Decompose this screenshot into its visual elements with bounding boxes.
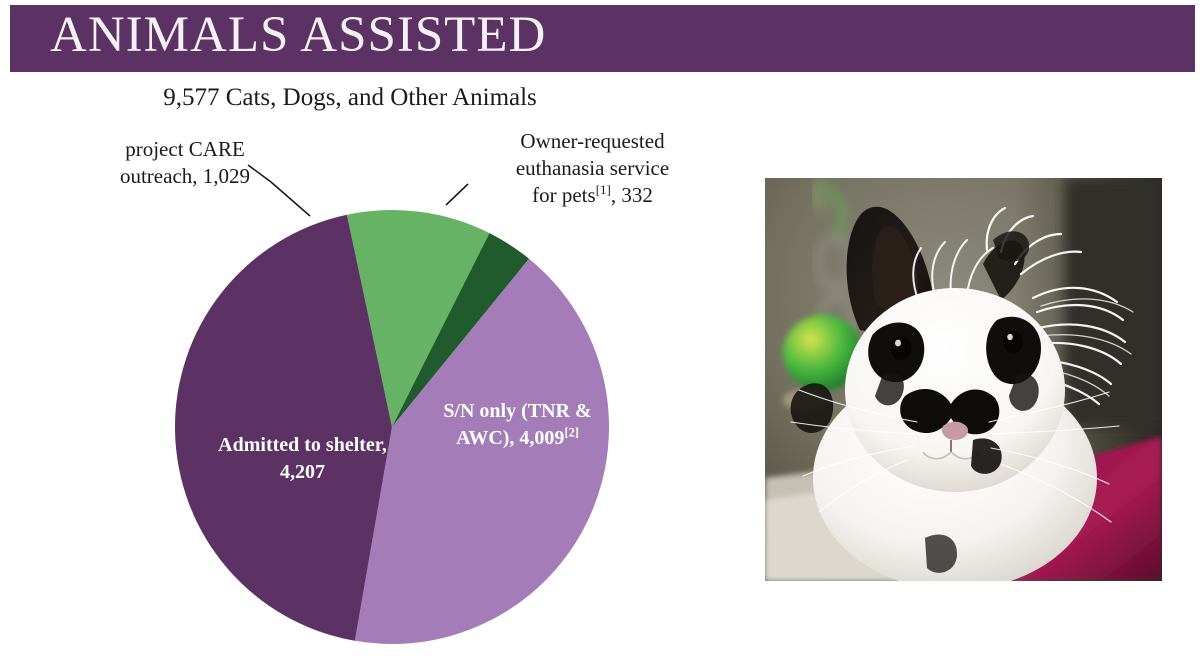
- pie-label-project-care-line1: project CARE: [60, 136, 310, 163]
- footnote-marker-2: [2]: [564, 425, 578, 439]
- pie-label-euthanasia-line3-value: , 332: [611, 183, 653, 207]
- pie-label-shelter-line1: Admitted to shelter,: [180, 432, 425, 459]
- pie-label-euthanasia-line1: Owner-requested: [470, 128, 715, 155]
- pie-label-sn-line1: S/N only (TNR &: [410, 398, 625, 425]
- pie-chart-svg: [0, 0, 740, 660]
- pie-label-euthanasia-line3: for pets[1], 332: [470, 182, 715, 209]
- leader-line-euthanasia: [446, 184, 468, 205]
- rabbit-photo: [765, 178, 1162, 581]
- pie-label-admitted-to-shelter: Admitted to shelter, 4,207: [180, 432, 425, 486]
- pie-label-euthanasia-line2: euthanasia service: [470, 155, 715, 182]
- pie-label-sn-line2: AWC), 4,009[2]: [410, 425, 625, 452]
- slide-canvas: ANIMALS ASSISTED 9,577 Cats, Dogs, and O…: [0, 0, 1204, 660]
- pie-label-euthanasia: Owner-requested euthanasia service for p…: [470, 128, 715, 209]
- rabbit-photo-image: [765, 178, 1162, 581]
- pie-label-sn-line2-text: AWC), 4,009: [456, 427, 564, 449]
- pie-label-shelter-line2: 4,207: [180, 459, 425, 486]
- pie-slice: [175, 215, 392, 641]
- pie-label-sn-only: S/N only (TNR & AWC), 4,009[2]: [410, 398, 625, 452]
- pie-label-project-care: project CARE outreach, 1,029: [60, 136, 310, 190]
- pie-label-project-care-line2: outreach, 1,029: [60, 163, 310, 190]
- pie-chart: project CARE outreach, 1,029 Owner-reque…: [0, 0, 740, 660]
- pie-label-euthanasia-line3-text: for pets: [532, 183, 596, 207]
- footnote-marker-1: [1]: [596, 182, 611, 197]
